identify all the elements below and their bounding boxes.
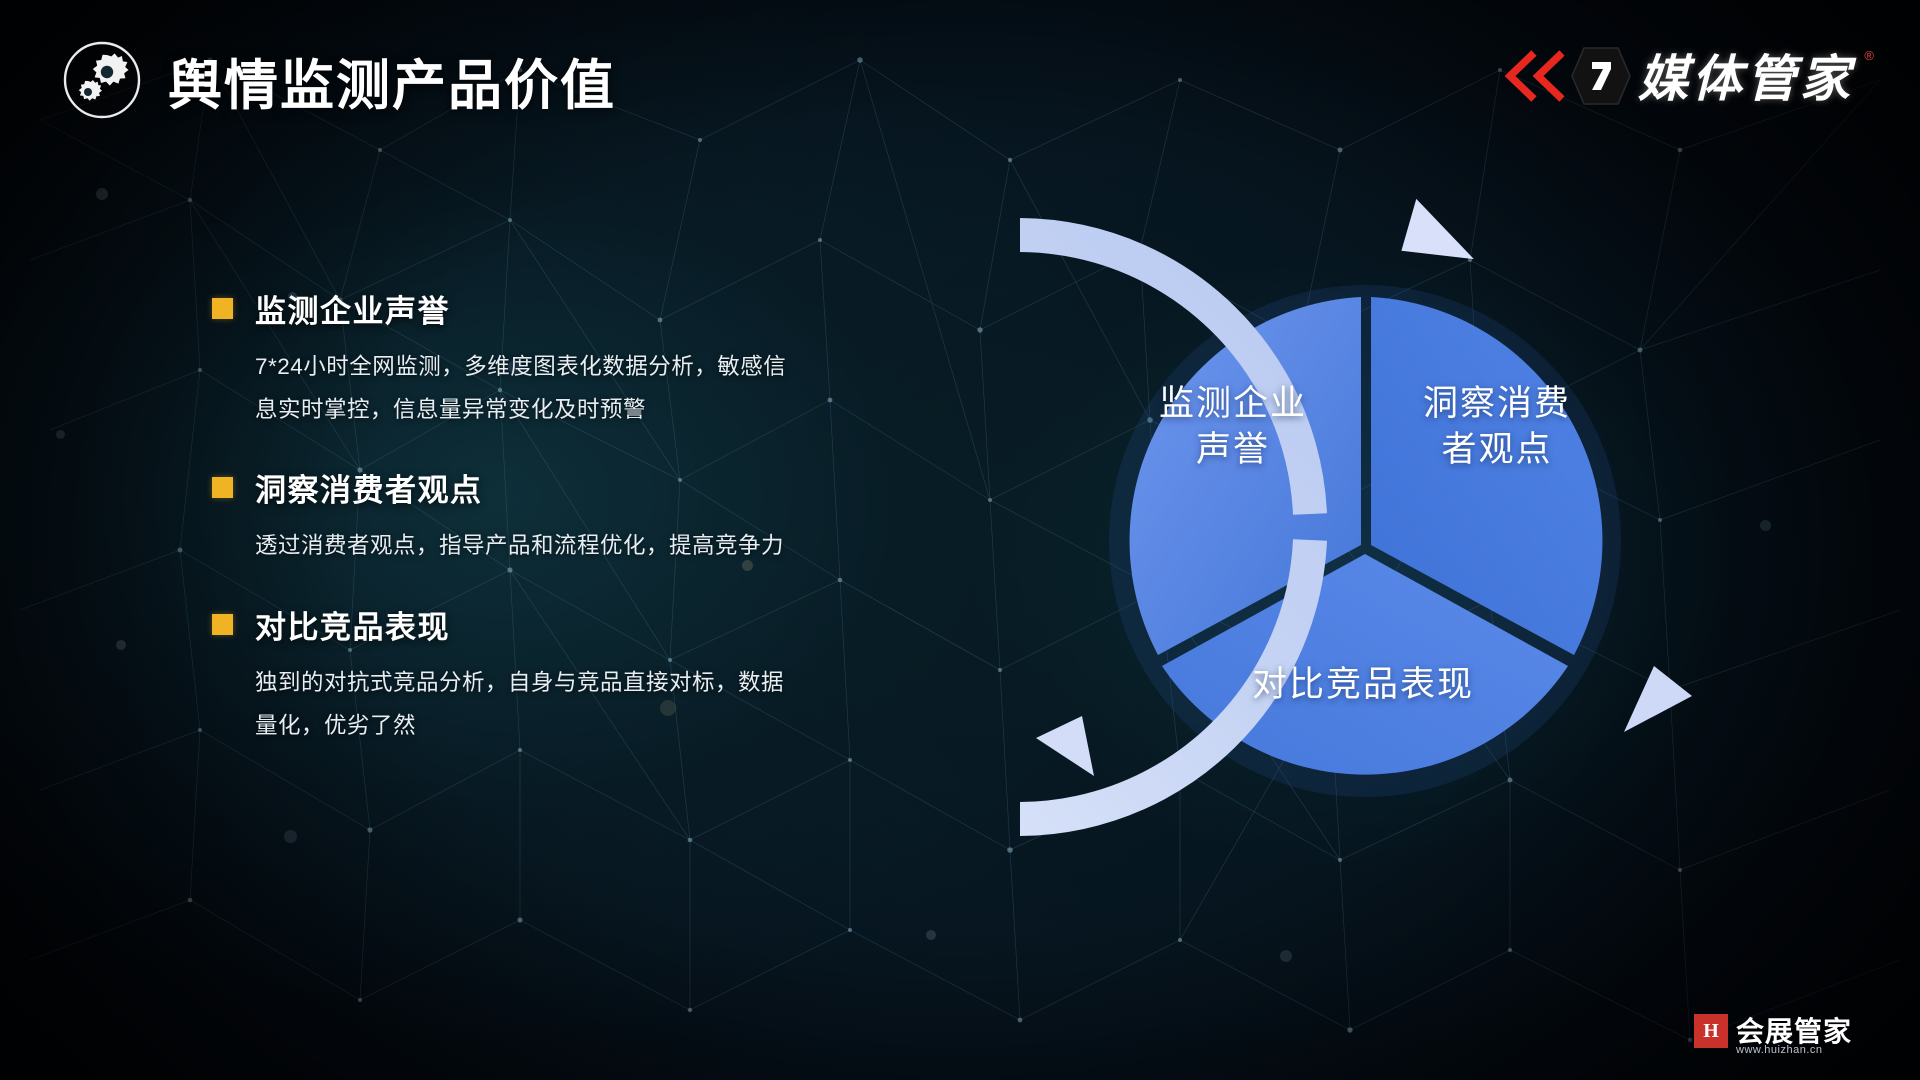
registered-mark: ®: [1864, 48, 1874, 63]
list-item: 对比竞品表现 独到的对抗式竞品分析，自身与竞品直接对标，数据量化，优劣了然: [212, 602, 812, 747]
list-item: 洞察消费者观点 透过消费者观点，指导产品和流程优化，提高竞争力: [212, 465, 812, 567]
hex-mark-icon: [1568, 44, 1634, 108]
gears-in-circle-icon: [62, 40, 142, 120]
brand-logo: 媒体管家 ®: [1502, 26, 1872, 126]
watermark-badge-icon: H: [1694, 1014, 1728, 1048]
bullet-heading-row: 对比竞品表现: [212, 602, 812, 647]
watermark-url: www.huizhan.cn: [1736, 1044, 1823, 1056]
bullet-title: 洞察消费者观点: [255, 465, 483, 510]
square-bullet-icon: [212, 298, 233, 319]
segment-label-insight: 洞察消费 者观点: [1372, 381, 1622, 473]
bullet-body: 独到的对抗式竞品分析，自身与竞品直接对标，数据量化，优劣了然: [255, 661, 790, 747]
bokeh-dot: [926, 930, 936, 940]
square-bullet-icon: [212, 614, 233, 635]
bullet-body: 7*24小时全网监测，多维度图表化数据分析，敏感信息实时掌控，信息量异常变化及时…: [255, 345, 790, 431]
bullet-body: 透过消费者观点，指导产品和流程优化，提高竞争力: [255, 524, 790, 567]
bullet-heading-row: 洞察消费者观点: [212, 465, 812, 510]
bokeh-dot: [1760, 520, 1771, 531]
bullet-heading-row: 监测企业声誉: [212, 286, 812, 331]
bullet-title: 对比竞品表现: [255, 602, 450, 647]
cycle-diagram: 监测企业 声誉 洞察消费 者观点 对比竞品表现: [1020, 196, 1710, 886]
page-title: 舆情监测产品价值: [168, 40, 616, 120]
bokeh-dot: [96, 188, 108, 200]
feature-list: 监测企业声誉 7*24小时全网监测，多维度图表化数据分析，敏感信息实时掌控，信息…: [212, 286, 812, 781]
watermark: H 会展管家 www.huizhan.cn: [1694, 1010, 1894, 1066]
bokeh-dot: [56, 430, 65, 439]
list-item: 监测企业声誉 7*24小时全网监测，多维度图表化数据分析，敏感信息实时掌控，信息…: [212, 286, 812, 431]
segment-label-monitor: 监测企业 声誉: [1108, 381, 1358, 473]
square-bullet-icon: [212, 477, 233, 498]
bokeh-dot: [1280, 950, 1292, 962]
slide-canvas: 舆情监测产品价值 媒体管家 ® 监测企业声誉: [0, 0, 1920, 1080]
brand-name: 媒体管家: [1638, 32, 1872, 118]
segment-label-compare: 对比竞品表现: [1198, 662, 1528, 708]
bullet-title: 监测企业声誉: [255, 286, 450, 331]
bokeh-dot: [284, 830, 297, 843]
bokeh-dot: [116, 640, 126, 650]
